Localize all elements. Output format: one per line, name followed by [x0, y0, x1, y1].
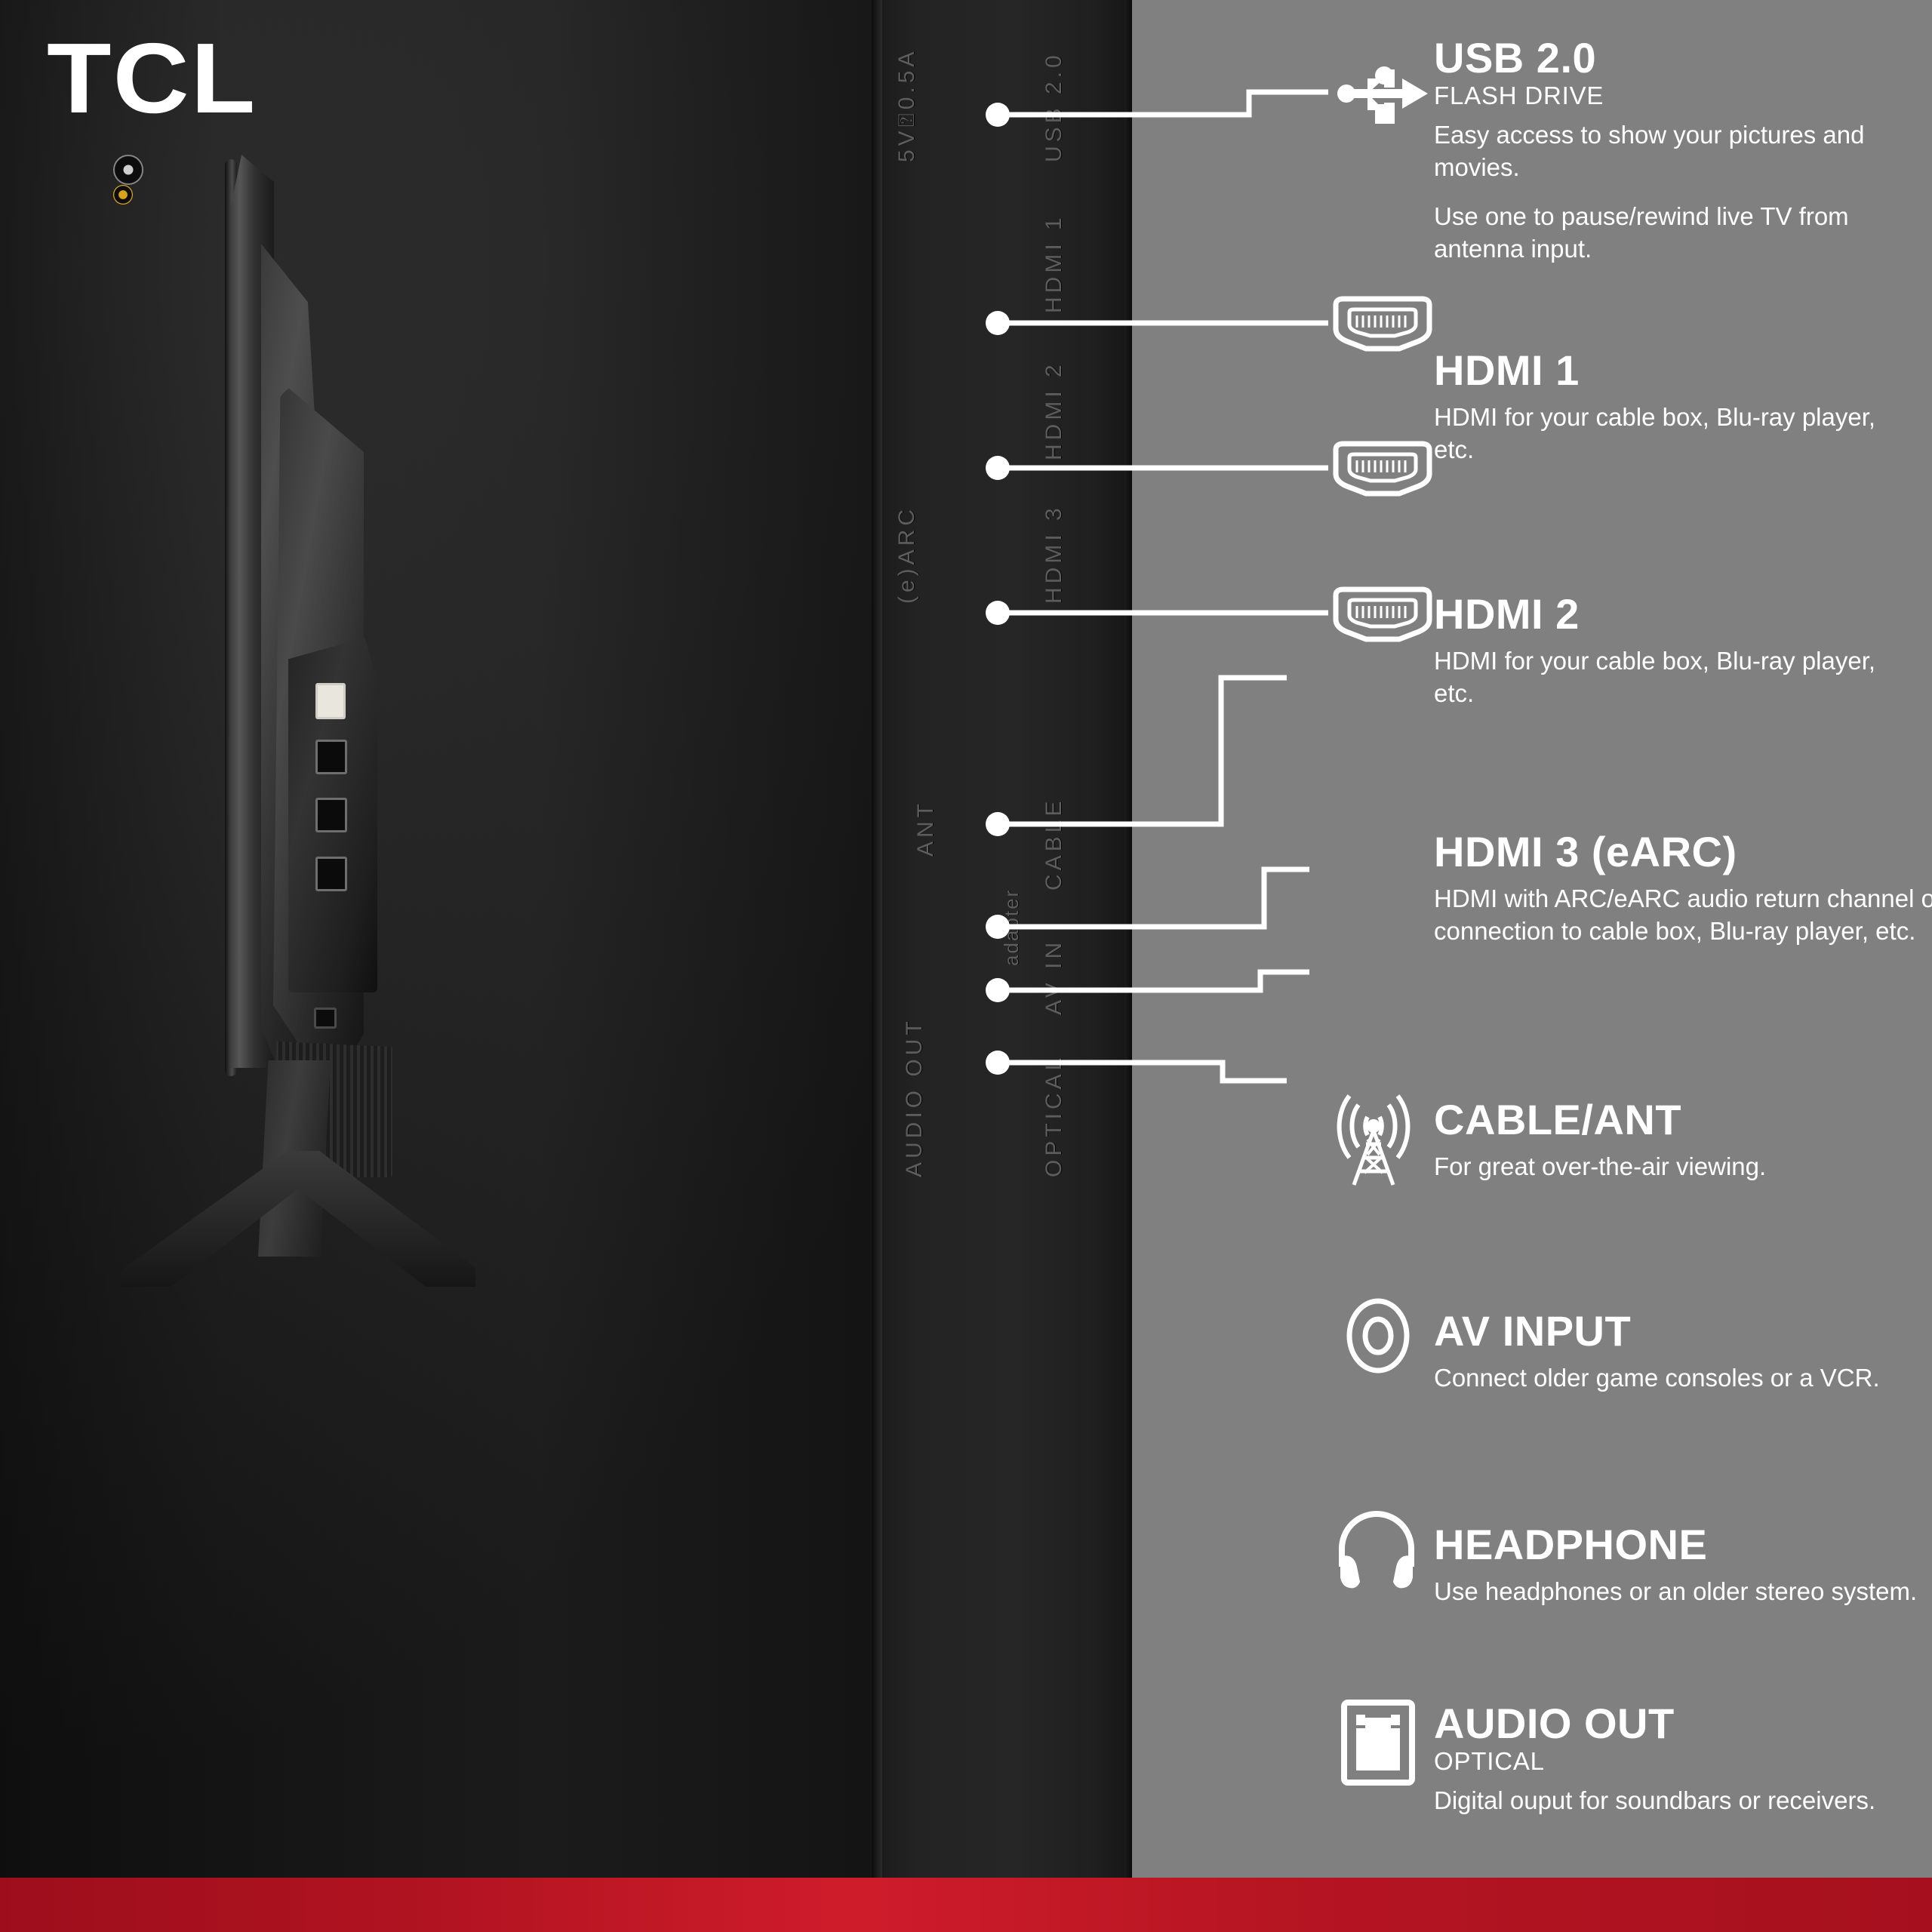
- tv-side-hdmi3-port: [315, 857, 347, 891]
- panel-label-optical: OPTICAL: [1041, 1054, 1067, 1177]
- panel-label-usb-power: 5V⍰0.5A: [894, 48, 920, 162]
- callout-title: HDMI 1: [1434, 349, 1921, 392]
- tcl-logo: TCL: [47, 29, 257, 128]
- callout-description: Use one to pause/rewind live TV from ant…: [1434, 201, 1921, 266]
- callout-description: HDMI with ARC/eARC audio return channel …: [1434, 883, 1932, 948]
- tv-side-hdmi2-port: [315, 798, 347, 832]
- hdmi-connector-icon: [1330, 585, 1435, 644]
- callout-hdmi2: HDMI 2 HDMI for your cable box, Blu-ray …: [1434, 592, 1921, 710]
- headphone-icon: [1334, 1509, 1419, 1589]
- tv-side-profile-image: [113, 155, 475, 1868]
- callout-title: HEADPHONE: [1434, 1523, 1921, 1567]
- callout-title: HDMI 3 (eARC): [1434, 830, 1932, 874]
- callout-description: Digital ouput for soundbars or receivers…: [1434, 1785, 1921, 1817]
- optical-toslink-icon: [1340, 1698, 1417, 1787]
- panel-label-hdmi1: HDMI 1: [1041, 214, 1067, 313]
- callout-description: Connect older game consoles or a VCR.: [1434, 1362, 1921, 1395]
- panel-label-usb: USB 2.0: [1041, 51, 1067, 162]
- callout-audio-out: AUDIO OUT OPTICAL Digital ouput for soun…: [1434, 1702, 1921, 1817]
- callout-title: HDMI 2: [1434, 592, 1921, 636]
- panel-label-hdmi3: HDMI 3: [1041, 504, 1067, 604]
- panel-label-cable: CABLE: [1041, 798, 1067, 891]
- callout-description: Easy access to show your pictures and mo…: [1434, 119, 1921, 184]
- callout-title: CABLE/ANT: [1434, 1098, 1921, 1142]
- callout-title: AV INPUT: [1434, 1309, 1921, 1353]
- callout-description: HDMI for your cable box, Blu-ray player,…: [1434, 401, 1921, 466]
- callout-description: Use headphones or an older stereo system…: [1434, 1576, 1921, 1608]
- callout-description: For great over-the-air viewing.: [1434, 1151, 1921, 1183]
- callout-hdmi1: HDMI 1 HDMI for your cable box, Blu-ray …: [1434, 349, 1921, 466]
- infographic-stage: 5V⍰0.5A USB 2.0 HDMI 1 HDMI 2 HDMI 3 (e)…: [0, 0, 1932, 1932]
- tv-side-usb-port: [315, 683, 346, 719]
- panel-label-av-in: AV IN: [1041, 939, 1067, 1015]
- tv-port-panel-photo: 5V⍰0.5A USB 2.0 HDMI 1 HDMI 2 HDMI 3 (e)…: [872, 0, 1132, 1878]
- rca-jack-icon: [1345, 1297, 1411, 1375]
- tv-side-av-port: [113, 185, 133, 205]
- hdmi-connector-icon: [1330, 294, 1435, 353]
- brand-footer-bar: [0, 1878, 1932, 1932]
- panel-label-ant: ANT: [913, 800, 939, 857]
- callout-subtitle: OPTICAL: [1434, 1747, 1921, 1776]
- tv-side-hdmi1-port: [315, 740, 347, 774]
- callout-cable-ant: CABLE/ANT For great over-the-air viewing…: [1434, 1098, 1921, 1183]
- antenna-tower-icon: [1327, 1088, 1420, 1188]
- callout-av-input: AV INPUT Connect older game consoles or …: [1434, 1309, 1921, 1395]
- callout-headphone: HEADPHONE Use headphones or an older ste…: [1434, 1523, 1921, 1608]
- usb-icon: [1337, 62, 1428, 125]
- callout-hdmi3: HDMI 3 (eARC) HDMI with ARC/eARC audio r…: [1434, 830, 1932, 948]
- callout-subtitle: FLASH DRIVE: [1434, 82, 1921, 110]
- callout-usb: USB 2.0 FLASH DRIVE Easy access to show …: [1434, 36, 1921, 266]
- panel-label-audio-out: AUDIO OUT: [902, 1017, 928, 1177]
- callout-title: USB 2.0: [1434, 36, 1921, 80]
- callout-description: HDMI for your cable box, Blu-ray player,…: [1434, 645, 1921, 710]
- callout-title: AUDIO OUT: [1434, 1702, 1921, 1746]
- hdmi-connector-icon: [1330, 439, 1435, 498]
- panel-label-av-adapter: adapter: [1000, 889, 1023, 966]
- tv-side-ant-port: [113, 155, 143, 185]
- panel-label-earc: (e)ARC: [894, 506, 920, 604]
- tv-side-optical-port: [314, 1008, 337, 1029]
- panel-label-hdmi2: HDMI 2: [1041, 361, 1067, 460]
